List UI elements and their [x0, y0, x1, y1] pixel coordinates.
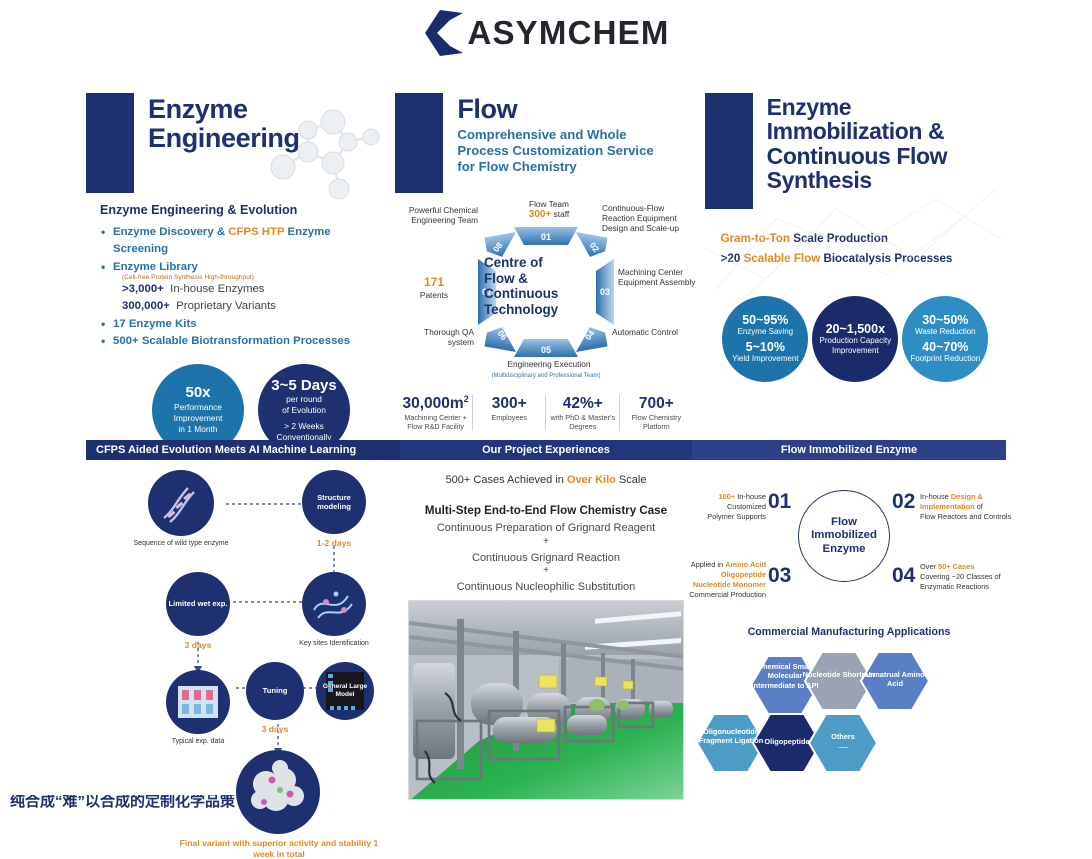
- workflow-caption-wetexp: 3 days: [150, 640, 246, 651]
- flow-technology-wheel: 01 05 07 03 08 02 06 04 Centre of Flow &…: [396, 197, 696, 387]
- claim-line: Gram-to-Ton Scale Production: [721, 229, 1006, 249]
- wheel-center-line: Technology: [484, 302, 608, 318]
- case-step: Continuous Grignard Reaction: [400, 550, 692, 567]
- fie-text: Polymer Supports: [707, 512, 766, 521]
- hex-label-sub: ......: [838, 744, 848, 750]
- case-plus: +: [400, 566, 692, 576]
- stat-label: Improvement: [174, 413, 223, 424]
- wheel-label-01: Flow Team 300+ staff: [506, 199, 592, 221]
- stat-label: of Evolution: [282, 405, 326, 416]
- stat-label: Flow Chemistry Platform: [622, 413, 691, 431]
- fie-text-01: 100+ In-house Customized Polymer Support…: [662, 492, 766, 522]
- claim-pre: >20: [721, 252, 744, 265]
- fie-highlight: Oligopeptide: [721, 570, 766, 579]
- wheel-label-05: Engineering Execution: [504, 359, 594, 369]
- sub-item-number: 300,000+: [122, 300, 170, 312]
- sub-item-text: Proprietary Variants: [176, 300, 276, 312]
- stat-value: 50~95%: [742, 313, 788, 327]
- panel-title-line1: Flow: [457, 95, 667, 124]
- fie-number-04: 04: [892, 564, 915, 588]
- bottom-sections: Sequence of wild type enzyme Structure m…: [86, 462, 1006, 802]
- list-item: 300,000+ Proprietary Variants: [100, 298, 383, 315]
- stat-circle-enzyme-saving: 50~95% Enzyme Saving 5~10% Yield Improve…: [722, 296, 808, 382]
- sub-item-number: >3,000+: [122, 283, 164, 295]
- panel-title-line3: Continuous Flow: [767, 144, 948, 168]
- section-bar-label: Our Project Experiences: [482, 444, 610, 456]
- workflow-node-wetexp: Limited wet exp.: [166, 572, 230, 636]
- stat-value: 42%+: [548, 395, 617, 412]
- industrial-plant-photo-icon: [409, 601, 684, 800]
- stat-value: 50x: [185, 385, 210, 402]
- stat-value: 5~10%: [746, 340, 785, 354]
- flow-immobilized-column: Flow Immobilized Enzyme 01 100+ In-house…: [692, 462, 1006, 802]
- headline-highlight: Over Kilo: [567, 474, 616, 486]
- fie-text: of: [975, 502, 983, 511]
- cfps-workflow-column: Sequence of wild type enzyme Structure m…: [86, 462, 400, 802]
- stat-item: 300+ Employees: [473, 395, 547, 431]
- sub-item-text: In-house Enzymes: [170, 283, 264, 295]
- flow-stats-row: 30,000m2 Machining Center + Flow R&D Fac…: [395, 395, 696, 431]
- panel-title-line1: Enzyme: [148, 95, 300, 124]
- stat-label: Performance: [174, 402, 222, 413]
- hexagon-c-logo-icon: [422, 8, 468, 58]
- footer-chinese-text: 纯合成“难”以合成的定制化学品策: [0, 795, 1092, 808]
- panel-accent-bar: [705, 93, 753, 209]
- stat-label: Machining Center + Flow R&D Facility: [401, 413, 470, 431]
- plant-photo: [408, 600, 684, 800]
- wheel-footnote: (Multidisciplinary and Professional Team…: [396, 373, 696, 379]
- section-title: Enzyme Engineering & Evolution: [100, 203, 383, 217]
- headline-post: Scale: [616, 474, 647, 486]
- stat-item: 700+ Flow Chemistry Platform: [620, 395, 693, 431]
- protein-ribbon-icon: [302, 572, 366, 636]
- stat-value: 300+: [475, 395, 544, 412]
- fie-text-04: Over 50+ Cases Covering ~20 Classes of E…: [920, 562, 1024, 592]
- wheel-label-rest: staff: [551, 209, 569, 219]
- stat-value: 30,000m2: [401, 395, 470, 412]
- brand-name: ASYMCHEM: [467, 14, 669, 52]
- section-bar-label: Flow Immobilized Enzyme: [781, 444, 917, 456]
- fie-text: Flow Reactors and Controls: [920, 512, 1011, 521]
- dna-helix-icon: [148, 470, 214, 536]
- panel-title-line4: Synthesis: [767, 168, 948, 192]
- hex-label-unnatural-amino-acid: Unnatrual Amino Acid: [858, 670, 932, 689]
- fie-center-circle: Flow Immobilized Enzyme: [798, 490, 890, 582]
- workflow-caption-structure: 1-2 days: [286, 538, 382, 549]
- case-step: Continuous Nucleophilic Substitution: [400, 579, 692, 596]
- hexagon-grid-icon: [692, 642, 992, 787]
- immobilization-claims: Gram-to-Ton Scale Production >20 Scalabl…: [705, 229, 1006, 270]
- list-item: 17 Enzyme Kits: [100, 316, 383, 333]
- stat-superscript: 2: [464, 394, 469, 404]
- panel-enzyme-immobilization: Enzyme Immobilization & Continuous Flow …: [705, 93, 1006, 438]
- project-experiences-column: 500+ Cases Achieved in Over Kilo Scale M…: [400, 462, 692, 802]
- list-item: >3,000+ In-house Enzymes: [100, 281, 383, 298]
- stat-circle-waste: 30~50% Waste Reduction 40~70% Footprint …: [902, 296, 988, 382]
- stat-label: Footprint Reduction: [910, 354, 980, 364]
- fie-text-03: Applied in Amino Acid Oligopeptide Nucle…: [658, 560, 766, 600]
- wheel-label-06: Thorough QA system: [402, 327, 474, 347]
- workflow-node-llm: General Large Model: [316, 662, 374, 720]
- wheel-label-03: Machining Center Equipment Assembly: [618, 267, 696, 287]
- workflow-caption-final: Final variant with superior activity and…: [179, 838, 379, 859]
- wheel-label-bold: 300+: [529, 209, 552, 220]
- hex-label-others: Others ......: [806, 732, 880, 752]
- fie-highlight: Nucleotide Monomer: [693, 580, 766, 589]
- workflow-caption-tuning: 3 days: [227, 724, 323, 735]
- stat-label: Improvement: [832, 346, 879, 356]
- fie-highlight: Amino Acid: [725, 560, 766, 569]
- workflow-node-label: Limited wet exp.: [168, 599, 227, 608]
- panel-title-line2: Engineering: [148, 124, 300, 153]
- workflow-node-tuning: Tuning: [246, 662, 304, 720]
- section-bar-label: CFPS Aided Evolution Meets AI Machine Le…: [96, 444, 356, 456]
- wheel-label-bold: 171: [424, 275, 444, 289]
- svg-text:05: 05: [541, 345, 551, 355]
- fie-text: In-house: [920, 492, 951, 501]
- section-bar-immobilized: Flow Immobilized Enzyme: [692, 440, 1006, 460]
- stat-label: with PhD & Master's Degrees: [548, 413, 617, 431]
- list-item: Enzyme Discovery & CFPS HTP Enzyme Scree…: [100, 224, 383, 259]
- wheel-label-text: Flow Team: [529, 199, 569, 209]
- enzyme-bullet-list: Enzyme Discovery & CFPS HTP Enzyme Scree…: [100, 224, 383, 276]
- list-item: 500+ Scalable Biotransformation Processe…: [100, 333, 383, 350]
- svg-text:01: 01: [541, 232, 551, 242]
- panel-title-line1: Enzyme: [767, 95, 948, 119]
- flow-immobilized-diagram: Flow Immobilized Enzyme 01 100+ In-house…: [692, 468, 992, 618]
- wheel-label-04: Automatic Control: [612, 327, 686, 337]
- claim-highlight: Scalable Flow: [744, 252, 821, 265]
- stat-label: Production Capacity: [820, 336, 892, 346]
- case-plus: +: [400, 537, 692, 547]
- workflow-caption-expdata: Typical exp. data: [150, 738, 246, 747]
- enzyme-sub-list: >3,000+ In-house Enzymes 300,000+ Propri…: [100, 281, 383, 350]
- wheel-center-line: Centre of: [484, 255, 608, 271]
- stat-item: 30,000m2 Machining Center + Flow R&D Fac…: [399, 395, 473, 431]
- workflow-node-structure: Structure modeling: [302, 470, 366, 534]
- fie-highlight: Design &: [951, 492, 983, 501]
- fie-text: Applied in: [691, 560, 726, 569]
- applications-title: Commercial Manufacturing Applications: [692, 626, 1006, 638]
- stat-item: 42%+ with PhD & Master's Degrees: [546, 395, 620, 431]
- fie-center-line: Enzyme: [822, 543, 865, 556]
- workflow-caption-sequence: Sequence of wild type enzyme: [133, 540, 229, 549]
- headline-pre: 500+ Cases Achieved in: [446, 474, 567, 486]
- stat-label: > 2 Weeks: [284, 421, 324, 432]
- case-step: Continuous Preparation of Grignard Reage…: [400, 520, 692, 537]
- stat-label: Yield Improvement: [732, 354, 798, 364]
- stat-value: 3~5 Days: [271, 378, 336, 395]
- workflow-node-label: General Large Model: [316, 683, 374, 699]
- panel-flow: Flow Comprehensive and Whole Process Cus…: [395, 93, 696, 438]
- workflow-node-keysites: [302, 572, 366, 636]
- workflow-node-expdata: [166, 670, 230, 734]
- bullet-highlight: CFPS HTP: [228, 226, 284, 238]
- fie-text-02: In-house Design & Implementation of Flow…: [920, 492, 1024, 522]
- claim-rest: Scale Production: [790, 232, 888, 245]
- bullet-pre: Enzyme Discovery &: [113, 226, 228, 238]
- stat-label: in 1 Month: [178, 424, 217, 435]
- workflow-caption-keysites: Key sites Identification: [286, 640, 382, 649]
- case-title: Multi-Step End-to-End Flow Chemistry Cas…: [400, 504, 692, 517]
- fie-text: Over: [920, 562, 938, 571]
- fie-number-03: 03: [768, 564, 791, 588]
- list-item: Enzyme Library: [100, 259, 383, 276]
- section-bar-cfps: CFPS Aided Evolution Meets AI Machine Le…: [86, 440, 400, 460]
- top-panels: Enzyme Engineering Enzyme Engineering & …: [86, 93, 1006, 438]
- wheel-label-02: Continuous-Flow Reaction Equipment Desig…: [602, 203, 698, 233]
- hex-label-text: Others: [831, 732, 855, 741]
- wheel-center-label: Centre of Flow & Continuous Technology: [484, 255, 608, 317]
- claim-line: >20 Scalable Flow Biocatalysis Processes: [721, 249, 1006, 269]
- fie-text: Enzymatic Reactions: [920, 582, 989, 591]
- stat-label: Employees: [475, 413, 544, 422]
- wheel-label-rest: Patents: [420, 290, 448, 300]
- immobilization-stat-circles: 50~95% Enzyme Saving 5~10% Yield Improve…: [705, 296, 1006, 382]
- fie-number-02: 02: [892, 490, 915, 514]
- stat-circle-capacity: 20~1,500x Production Capacity Improvemen…: [812, 296, 898, 382]
- fie-highlight: 100+: [719, 492, 736, 501]
- workflow-node-label: Tuning: [263, 686, 288, 695]
- stat-value: 20~1,500x: [826, 322, 885, 336]
- claim-rest: Biocatalysis Processes: [820, 252, 952, 265]
- wheel-label-08: Powerful Chemical Engineering Team: [392, 205, 478, 225]
- claim-highlight: Gram-to-Ton: [721, 232, 790, 245]
- wheel-center-line: Flow &: [484, 271, 608, 287]
- panel-accent-bar: [86, 93, 134, 193]
- panel-enzyme-engineering: Enzyme Engineering Enzyme Engineering & …: [86, 93, 387, 438]
- fie-number-01: 01: [768, 490, 791, 514]
- panel-accent-bar: [395, 93, 443, 193]
- protein-structure-icon: [236, 750, 320, 834]
- plate-icon: [166, 670, 230, 734]
- project-text-block: 500+ Cases Achieved in Over Kilo Scale M…: [400, 462, 692, 613]
- applications-hex-grid: Chemical Small Molecular Intermediate to…: [692, 642, 992, 787]
- fie-highlight: Implementation: [920, 502, 975, 511]
- wheel-center-line: Continuous: [484, 286, 608, 302]
- fie-text: In-house: [735, 492, 766, 501]
- stat-label: Waste Reduction: [915, 327, 976, 337]
- stat-value: 40~70%: [922, 340, 968, 354]
- workflow-node-sequence: [148, 470, 214, 536]
- stat-value: 700+: [622, 395, 691, 412]
- workflow-node-label: Structure modeling: [302, 493, 366, 511]
- workflow-diagram: Sequence of wild type enzyme Structure m…: [86, 462, 386, 800]
- section-bar-projects: Our Project Experiences: [400, 440, 692, 460]
- fie-center-line: Flow: [831, 516, 857, 529]
- section-header-bars: CFPS Aided Evolution Meets AI Machine Le…: [86, 440, 1006, 460]
- brand-logo: ASYMCHEM: [0, 8, 1092, 58]
- stat-value: 30~50%: [922, 313, 968, 327]
- fie-center-line: Immobilized: [811, 529, 877, 542]
- stat-number: 30,000m: [403, 395, 464, 412]
- workflow-node-final: [236, 750, 320, 834]
- infographic-page: ASYMCHEM Enzyme: [0, 0, 1092, 808]
- fie-text: Commercial Production: [689, 590, 766, 599]
- panel-title-line2: Immobilization &: [767, 119, 948, 143]
- fie-text: Customized: [727, 502, 766, 511]
- project-headline: 500+ Cases Achieved in Over Kilo Scale: [400, 474, 692, 486]
- wheel-label-07: 171 Patents: [396, 275, 472, 300]
- panel-subtitle: Comprehensive and Whole Process Customiz…: [457, 127, 667, 175]
- footer-chinese-strip: 纯合成“难”以合成的定制化学品策: [0, 795, 1092, 808]
- stat-label: Enzyme Saving: [738, 327, 794, 337]
- stat-label: per round: [286, 394, 322, 405]
- fie-highlight: 50+ Cases: [938, 562, 974, 571]
- fie-text: Covering ~20 Classes of: [920, 572, 1001, 581]
